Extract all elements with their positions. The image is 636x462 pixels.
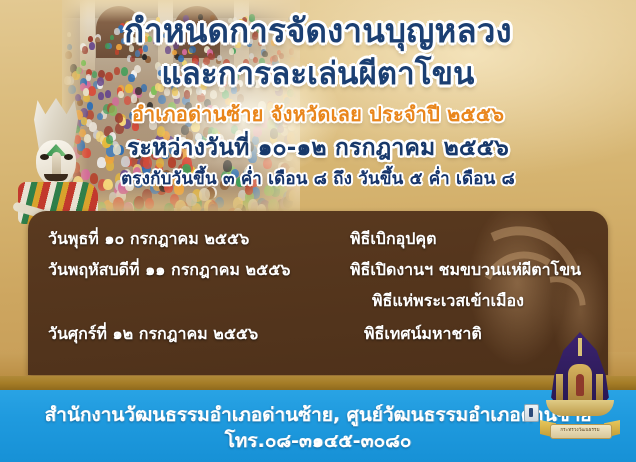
poster-subtitle: อำเภอด่านซ้าย จังหวัดเลย ประจำปี ๒๕๕๖ bbox=[0, 104, 636, 125]
ribbon-label: กระทรวงวัฒนธรรม bbox=[552, 426, 608, 433]
poster-headings: กำหนดการจัดงานบุญหลวง และการละเล่นผีตาโข… bbox=[0, 0, 636, 200]
schedule-date: วันพุธที่ ๑๐ กรกฎาคม ๒๕๕๖ bbox=[48, 227, 249, 252]
schedule-rows: วันพุธที่ ๑๐ กรกฎาคม ๒๕๕๖ พิธีเบิกอุปคุต… bbox=[28, 211, 608, 375]
schedule-date: วันศุกร์ที่ ๑๒ กรกฎาคม ๒๕๕๖ bbox=[48, 322, 258, 347]
table-row: วันศุกร์ที่ ๑๒ กรกฎาคม ๒๕๕๖ พิธีเทศน์มหา… bbox=[28, 322, 608, 350]
schedule-panel: วันพุธที่ ๑๐ กรกฎาคม ๒๕๕๖ พิธีเบิกอุปคุต… bbox=[28, 211, 608, 375]
table-row: วันพุธที่ ๑๐ กรกฎาคม ๒๕๕๖ พิธีเบิกอุปคุต bbox=[28, 227, 608, 255]
poster-date-range: ระหว่างวันที่ ๑๐-๑๒ กรกฎาคม ๒๕๕๖ bbox=[0, 136, 636, 160]
table-row: วันพฤหัสบดีที่ ๑๑ กรกฎาคม ๒๕๕๖ พิธีเปิดง… bbox=[28, 258, 608, 286]
emblem-column-right bbox=[596, 374, 603, 400]
poster-lunar-note: ตรงกับวันขึ้น ๓ ค่ำ เดือน ๘ ถึง วันขึ้น … bbox=[0, 170, 636, 188]
schedule-event: พิธีเปิดงานฯ ชมขบวนแห่ผีตาโขน bbox=[350, 258, 581, 283]
schedule-event: พิธีเทศน์มหาชาติ bbox=[364, 322, 482, 347]
emblem-base bbox=[546, 400, 614, 416]
emblem-central-figure bbox=[576, 374, 584, 396]
schedule-date: วันพฤหัสบดีที่ ๑๑ กรกฎาคม ๒๕๕๖ bbox=[48, 258, 290, 283]
emblem-ribbon: กระทรวงวัฒนธรรม bbox=[540, 420, 620, 442]
table-row: พิธีแห่พระเวสเข้าเมือง bbox=[28, 289, 608, 317]
schedule-event: พิธีแห่พระเวสเข้าเมือง bbox=[372, 289, 524, 314]
emblem-column-left bbox=[556, 374, 563, 400]
emblem-spire bbox=[578, 338, 582, 356]
schedule-event: พิธีเบิกอุปคุต bbox=[350, 227, 436, 252]
page-title-line2: และการละเล่นผีตาโขน bbox=[0, 58, 636, 91]
festival-poster: กำหนดการจัดงานบุญหลวง และการละเล่นผีตาโข… bbox=[0, 0, 636, 462]
ministry-of-culture-emblem: กระทรวงวัฒนธรรม bbox=[534, 330, 626, 450]
page-title: กำหนดการจัดงานบุญหลวง bbox=[0, 14, 636, 49]
